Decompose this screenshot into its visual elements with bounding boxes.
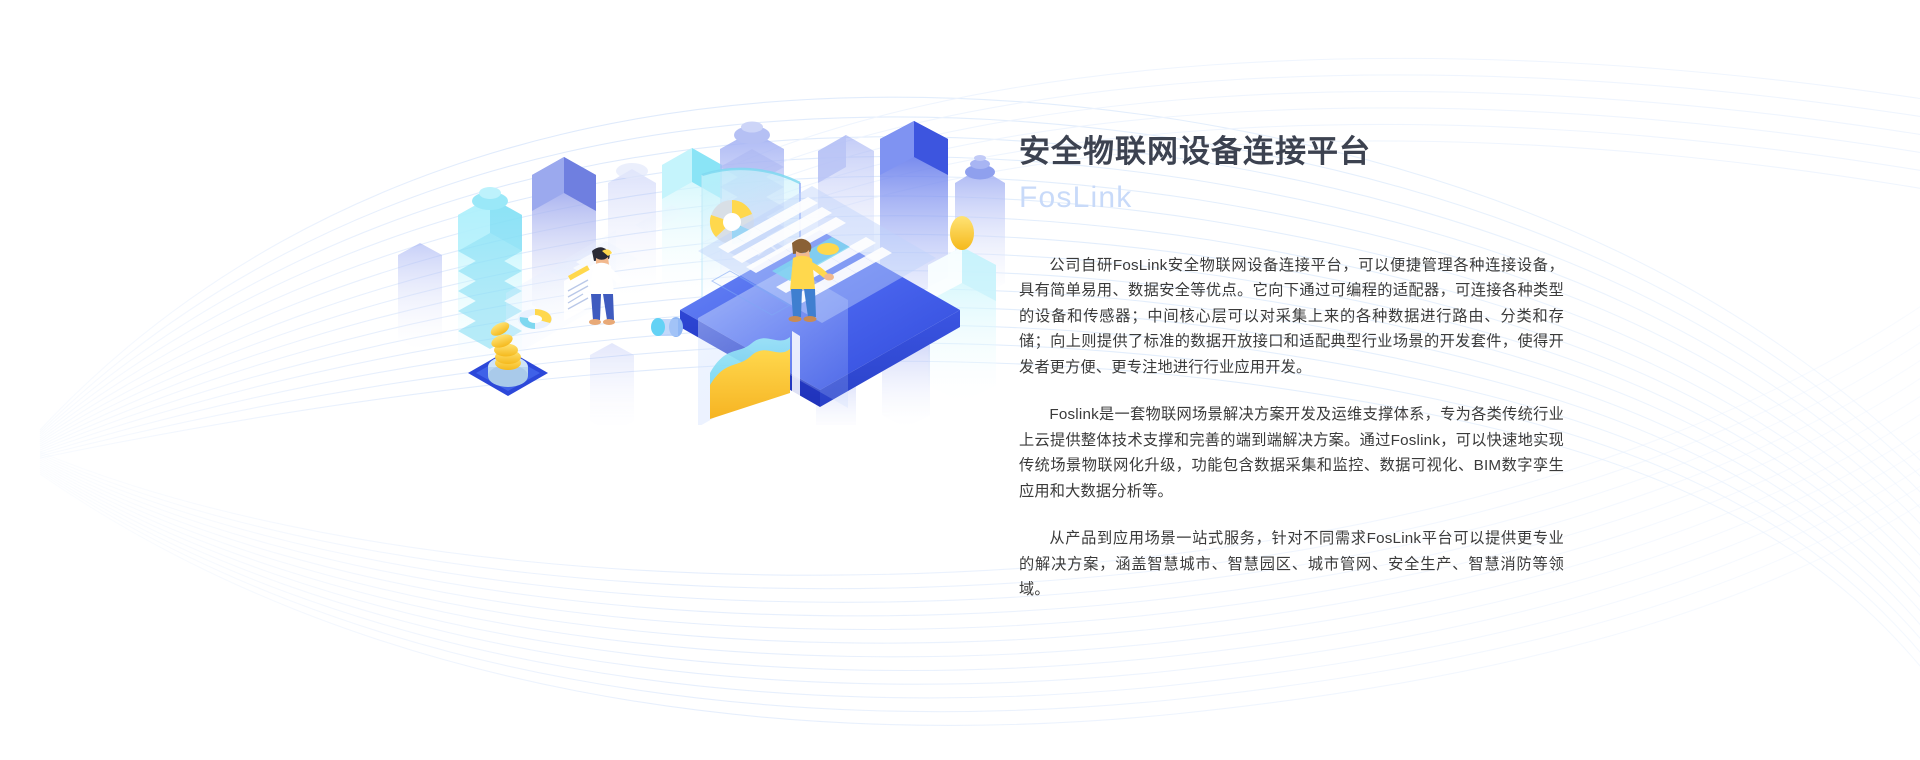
paragraph-3: 从产品到应用场景一站式服务，针对不同需求FosLink平台可以提供更专业的解决方… — [1019, 526, 1564, 603]
hero-section: 安全物联网设备连接平台 FosLink 公司自研FosLink安全物联网设备连接… — [0, 0, 1920, 760]
paragraph-1: 公司自研FosLink安全物联网设备连接平台，可以便捷管理各种连接设备，具有简单… — [1019, 253, 1564, 381]
platform-connector — [651, 317, 683, 337]
product-name-subtitle: FosLink — [1019, 178, 1564, 217]
page-title: 安全物联网设备连接平台 — [1019, 133, 1564, 172]
description-body: 公司自研FosLink安全物联网设备连接平台，可以便捷管理各种连接设备，具有简单… — [1019, 253, 1564, 603]
hero-text-column: 安全物联网设备连接平台 FosLink 公司自研FosLink安全物联网设备连接… — [1019, 133, 1564, 603]
paragraph-2: Foslink是一套物联网场景解决方案开发及运维支撑体系，专为各类传统行业上云提… — [1019, 402, 1564, 504]
hologram-donut-chart — [518, 309, 552, 329]
iot-platform-illustration — [380, 55, 1020, 425]
